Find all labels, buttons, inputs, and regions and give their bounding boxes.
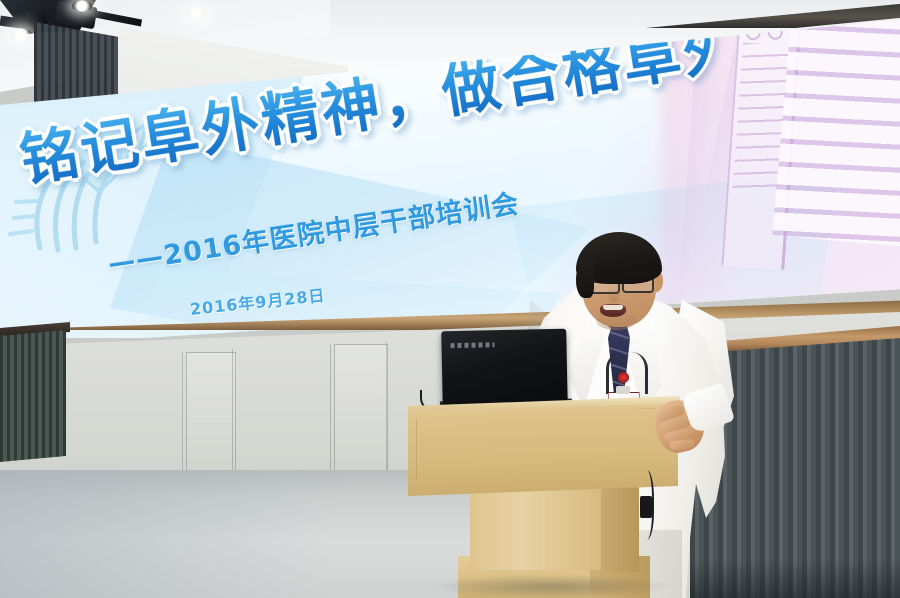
microphone-transmitter <box>640 496 652 518</box>
wall-seam <box>232 349 233 475</box>
right-slat-shadow <box>690 560 900 598</box>
wall-access-panel <box>334 344 388 480</box>
wall-access-panel <box>186 352 236 482</box>
necktie-stripe <box>608 331 630 340</box>
wall-seam <box>182 352 183 470</box>
laptop-logo <box>450 342 494 348</box>
speaker-hair-sideburn <box>576 258 594 298</box>
speaker-teeth <box>603 305 623 310</box>
laptop <box>441 329 568 410</box>
podium-top-panel <box>416 408 658 482</box>
speaker-lapel-pin <box>618 372 629 383</box>
wall-seam <box>330 344 331 476</box>
ceiling-downlight <box>185 8 207 20</box>
ceiling-downlight <box>10 28 32 41</box>
badge-clip <box>616 386 630 394</box>
conference-photo: 铭记阜外精神，做合格阜外干部 ——2016年医院中层干部培训会 2016年9月2… <box>0 0 900 598</box>
podium-floor-shadow <box>430 575 670 598</box>
floor-reflection <box>0 470 460 598</box>
podium-column-side <box>601 486 639 572</box>
ceiling-downlight <box>72 0 92 12</box>
left-slat-panel <box>0 330 66 462</box>
finger <box>669 439 695 451</box>
